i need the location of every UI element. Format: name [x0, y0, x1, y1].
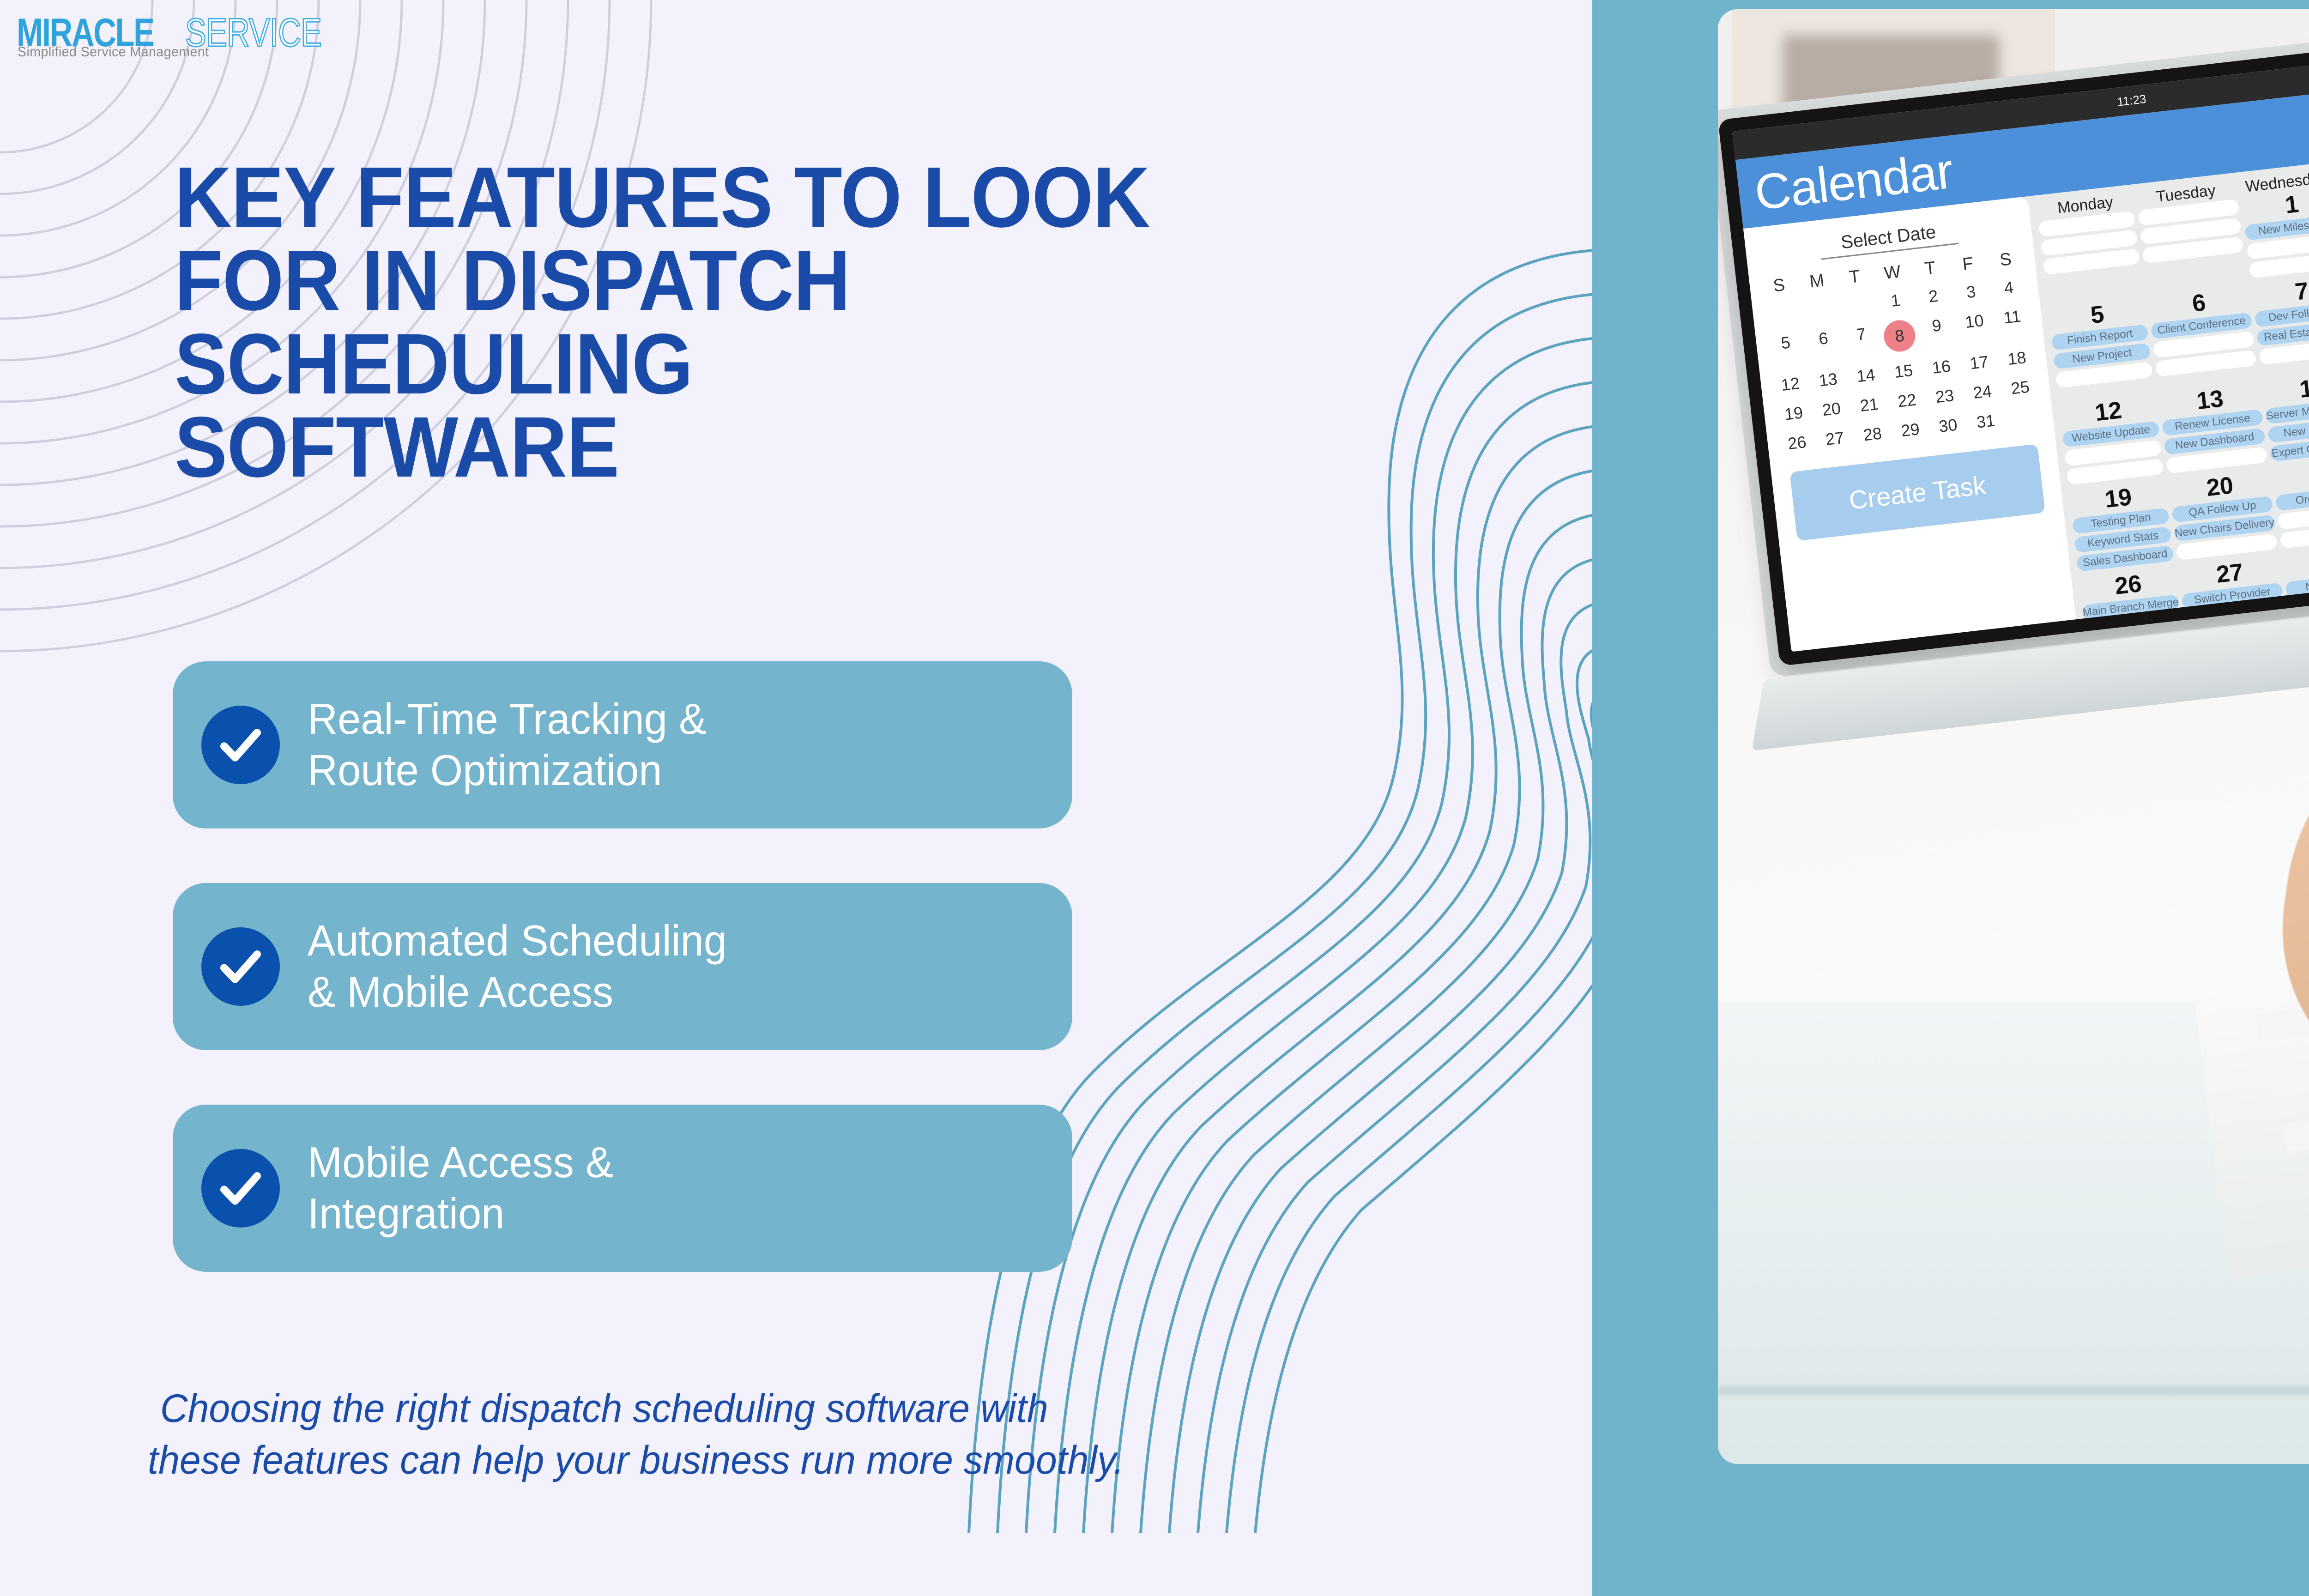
date-picker-day[interactable]: 24	[1962, 375, 2003, 408]
feature-2-line-2: & Mobile Access	[308, 967, 727, 1018]
feature-item-1[interactable]: Real-Time Tracking & Route Optimization	[173, 661, 1072, 828]
left-content-panel: MIRACLESERVICE Simplified Service Manage…	[0, 0, 1592, 1596]
month-cell[interactable]: 27Switch ProviderQA Conference	[2178, 556, 2287, 619]
check-icon	[215, 941, 266, 992]
date-picker-blank	[1838, 289, 1879, 321]
date-picker-grid[interactable]: SMTWTFS123456789101112131415161718192021…	[1759, 245, 2044, 459]
check-icon	[215, 719, 266, 770]
month-cell[interactable]: 5Finish ReportNew Project	[2048, 297, 2155, 401]
date-picker-day[interactable]: 13	[1807, 363, 1849, 396]
feature-item-3[interactable]: Mobile Access & Integration	[173, 1105, 1072, 1272]
brand-tagline: Simplified Service Management	[18, 44, 209, 60]
feature-3-line-2: Integration	[308, 1188, 613, 1239]
month-cell[interactable]: 7Dev Follow UpReal Estate Appt.	[2251, 274, 2309, 378]
brand-logo: MIRACLESERVICE Simplified Service Manage…	[17, 4, 368, 59]
date-picker-day[interactable]: 7	[1841, 318, 1883, 363]
date-picker-dow: T	[1834, 262, 1875, 292]
feature-label-1: Real-Time Tracking & Route Optimization	[308, 694, 707, 796]
caption-line-1: Choosing the right dispatch scheduling s…	[148, 1383, 1505, 1435]
date-picker-blank	[1762, 297, 1803, 330]
date-picker-day[interactable]: 31	[1965, 405, 2007, 438]
date-picker-title: Select Date	[1819, 219, 1959, 260]
date-picker-day[interactable]: 26	[1777, 427, 1818, 459]
month-cell[interactable]: 6Client Conference	[2148, 285, 2258, 390]
month-cell[interactable]: 19Testing PlanKeyword StatsSales Dashboa…	[2069, 481, 2175, 575]
date-picker-panel: Select Date SMTWTFS123456789101112131415…	[1743, 196, 2076, 652]
feature-3-line-1: Mobile Access &	[308, 1137, 613, 1188]
date-picker-day[interactable]: 27	[1814, 422, 1856, 455]
date-picker-day[interactable]: 3	[1951, 276, 1992, 308]
month-cell[interactable]: 13Renew LicenseNew Dashboard	[2159, 382, 2268, 477]
month-grid[interactable]: 1New Milestone2Dentist Appt.3Weekly Meet…	[2038, 165, 2309, 619]
feature-1-line-2: Route Optimization	[308, 745, 707, 796]
date-picker-dow: F	[1947, 249, 1988, 279]
date-picker-day[interactable]: 1	[1875, 284, 1916, 317]
right-media-panel: 11:23 97% Calendar	[1592, 0, 2309, 1596]
month-cell[interactable]: 20QA Follow UpNew Chairs Delivery	[2169, 469, 2278, 563]
date-picker-day[interactable]: 4	[1989, 272, 2030, 304]
check-badge-1	[201, 706, 280, 784]
date-picker-dow: W	[1872, 258, 1913, 288]
date-picker-day[interactable]: 21	[1849, 388, 1890, 421]
feature-list: Real-Time Tracking & Route Optimization …	[173, 661, 1073, 1326]
date-picker-day[interactable]: 22	[1886, 384, 1928, 417]
date-picker-day[interactable]: 5	[1765, 326, 1807, 371]
date-picker-blank	[1800, 293, 1841, 326]
date-picker-day[interactable]: 19	[1773, 397, 1814, 430]
month-cell[interactable]: 1New Milestone	[2241, 187, 2309, 281]
date-picker-dow: M	[1796, 266, 1837, 296]
footer-band: miracleservice.com	[1592, 1464, 2309, 1596]
date-picker-day-selected[interactable]: 8	[1879, 314, 1921, 358]
check-badge-3	[201, 1149, 280, 1227]
page-title: KEY FEATURES TO LOOK FOR IN DISPATCH SCH…	[175, 156, 1424, 490]
month-cell[interactable]: 21Order Prints	[2272, 458, 2309, 552]
date-picker-day[interactable]: 11	[1992, 301, 2034, 345]
status-bar-time: 11:23	[2116, 91, 2147, 109]
date-picker-day[interactable]: 14	[1845, 359, 1886, 392]
date-picker-dow: S	[1985, 245, 2026, 275]
date-picker-day[interactable]: 15	[1883, 355, 1924, 388]
date-picker-dow: S	[1759, 271, 1800, 301]
month-cell[interactable]: 12Website Update	[2059, 394, 2165, 489]
check-icon	[215, 1163, 266, 1214]
check-badge-2	[201, 927, 280, 1006]
closing-caption: Choosing the right dispatch scheduling s…	[148, 1383, 1505, 1487]
date-picker-day[interactable]: 18	[1996, 342, 2037, 375]
caption-line-2: these features can help your business ru…	[148, 1435, 1505, 1487]
feature-1-line-1: Real-Time Tracking &	[308, 694, 707, 745]
headline-line-2: FOR IN DISPATCH	[175, 239, 1424, 322]
date-picker-dow: T	[1910, 254, 1951, 284]
date-picker-day[interactable]: 16	[1921, 351, 1962, 383]
date-picker-day[interactable]: 9	[1916, 309, 1958, 354]
date-picker-day[interactable]: 6	[1803, 322, 1845, 367]
date-picker-day[interactable]: 10	[1954, 305, 1996, 350]
date-picker-day[interactable]: 25	[2000, 371, 2041, 404]
feature-item-2[interactable]: Automated Scheduling & Mobile Access	[173, 883, 1072, 1050]
feature-label-2: Automated Scheduling & Mobile Access	[308, 915, 727, 1018]
photo-desk-edge	[1718, 1386, 2309, 1395]
laptop-screen: 11:23 97% Calendar	[1732, 41, 2309, 652]
date-picker-day[interactable]: 2	[1913, 280, 1954, 313]
date-picker-day[interactable]: 23	[1924, 380, 1965, 413]
date-picker-day[interactable]: 28	[1852, 418, 1893, 451]
month-cell[interactable]	[2138, 199, 2247, 293]
month-cell[interactable]: 14Server MaintenanceNew InterfaceExpert …	[2262, 371, 2309, 465]
date-picker-day[interactable]: 17	[1958, 346, 2000, 379]
feature-2-line-1: Automated Scheduling	[308, 915, 727, 967]
date-picker-day[interactable]: 29	[1890, 414, 1931, 447]
hero-photo: 11:23 97% Calendar	[1718, 9, 2309, 1464]
laptop-device: 11:23 97% Calendar	[1718, 10, 2309, 799]
feature-label-3: Mobile Access & Integration	[308, 1137, 613, 1239]
poster-canvas: MIRACLESERVICE Simplified Service Manage…	[0, 0, 2309, 1596]
month-cell[interactable]: 26Main Branch MergeQ2 Report	[2079, 568, 2184, 619]
date-picker-day[interactable]: 12	[1770, 368, 1811, 400]
month-cell[interactable]	[2038, 211, 2144, 305]
create-task-button[interactable]: Create Task	[1789, 444, 2045, 541]
month-view-panel: MondayTuesdayWednesdayThursdayFriday 1Ne…	[2028, 138, 2309, 619]
headline-line-1: KEY FEATURES TO LOOK	[175, 156, 1424, 239]
laptop-bezel: 11:23 97% Calendar	[1718, 26, 2309, 666]
headline-line-3: SCHEDULING	[175, 323, 1424, 406]
headline-line-4: SOFTWARE	[175, 406, 1424, 489]
date-picker-day[interactable]: 30	[1928, 409, 1969, 442]
date-picker-day[interactable]: 20	[1811, 393, 1852, 426]
